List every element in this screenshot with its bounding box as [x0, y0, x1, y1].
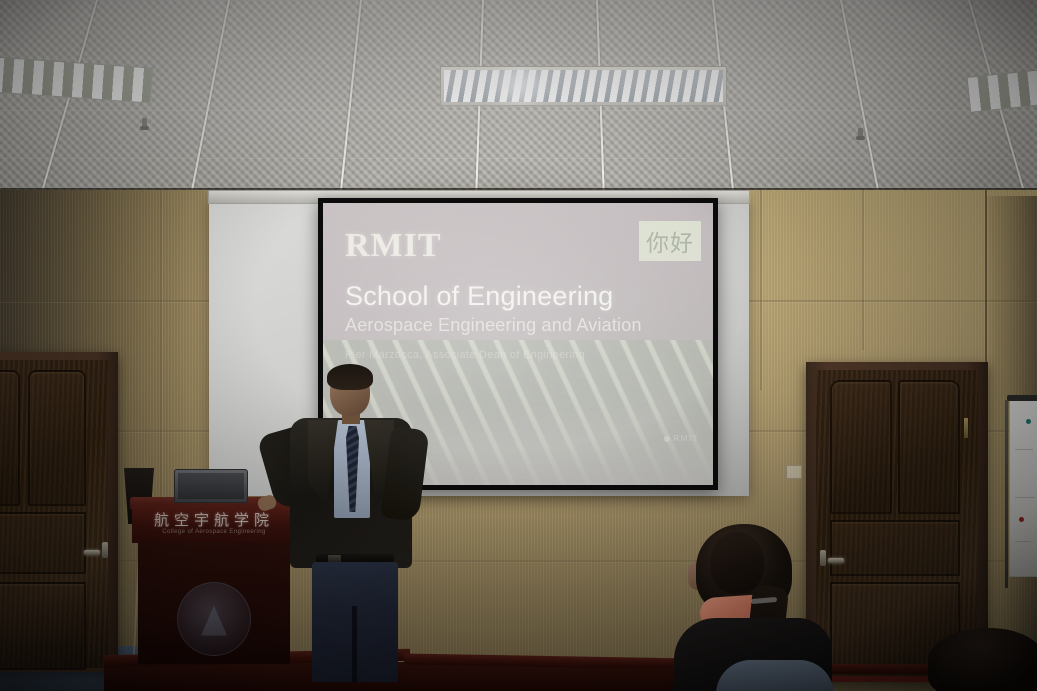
door-handle[interactable]	[84, 550, 100, 555]
lecture-hall-photo: RMIT 你好 School of Engineering Aerospace …	[0, 0, 1037, 691]
lectern-sign-english: College of Aerospace Engineering	[132, 529, 296, 535]
roll-up-banner[interactable]	[1009, 400, 1037, 577]
wall-seam	[862, 190, 864, 350]
ceiling-seam-h	[0, 58, 1037, 59]
wall-outlet	[786, 465, 802, 479]
lectern[interactable]: 航空宇航学院 College of Aerospace Engineering	[130, 497, 298, 667]
slide-watermark: RMIT	[664, 434, 699, 443]
ceiling	[0, 0, 1037, 196]
rmit-logo: RMIT	[345, 227, 442, 265]
slide-presenter-line: Pier Marzocca, Associate Dean of Enginee…	[345, 349, 585, 361]
wall-seam	[760, 190, 762, 390]
door-panel	[0, 370, 20, 506]
door-lock[interactable]	[102, 542, 108, 558]
lectern-nameplate: 航空宇航学院 College of Aerospace Engineering	[132, 505, 296, 543]
lamp-glow	[485, 66, 555, 106]
slide-subtitle: Aerospace Engineering and Aviation	[345, 315, 642, 336]
lectern-body	[138, 542, 290, 664]
banner-rule	[1015, 449, 1033, 450]
ceiling-light-center	[440, 66, 727, 106]
presenter-leg-seam	[352, 606, 357, 682]
greeting-badge: 你好	[639, 221, 701, 261]
ceiling-seam-h	[0, 110, 1037, 111]
banner-rule	[1015, 541, 1031, 542]
banner-mark-red	[1019, 517, 1024, 522]
banner-header-bar	[1007, 395, 1037, 401]
door-leaf[interactable]	[0, 360, 108, 668]
banner-rule	[1015, 497, 1035, 498]
greeting-text: 你好	[646, 224, 694, 258]
woman-head	[710, 532, 764, 594]
door-panel	[0, 512, 86, 574]
door-strike-plate	[964, 418, 968, 438]
door-left[interactable]	[0, 352, 118, 672]
door-panel	[0, 582, 86, 670]
university-seal-emblem	[177, 582, 251, 656]
door-panel	[830, 380, 892, 514]
watermark-dot-icon	[664, 436, 670, 442]
door-panel	[28, 370, 86, 506]
slide-title: School of Engineering	[345, 281, 613, 312]
watermark-text: RMIT	[673, 434, 699, 443]
sprinkler-head	[858, 128, 863, 139]
ceiling-seam-h	[0, 158, 1037, 159]
banner-pole	[1005, 400, 1008, 588]
sprinkler-head	[142, 118, 147, 129]
presenter	[282, 368, 432, 688]
door-panel	[830, 520, 960, 576]
audience-member-right	[928, 628, 1037, 691]
laptop[interactable]	[174, 469, 248, 503]
audience-chair[interactable]	[716, 660, 834, 691]
door-panel	[898, 380, 960, 514]
presenter-hair	[327, 364, 373, 390]
banner-mark-teal	[1026, 419, 1031, 424]
lectern-sign-chinese: 航空宇航学院	[132, 509, 296, 530]
